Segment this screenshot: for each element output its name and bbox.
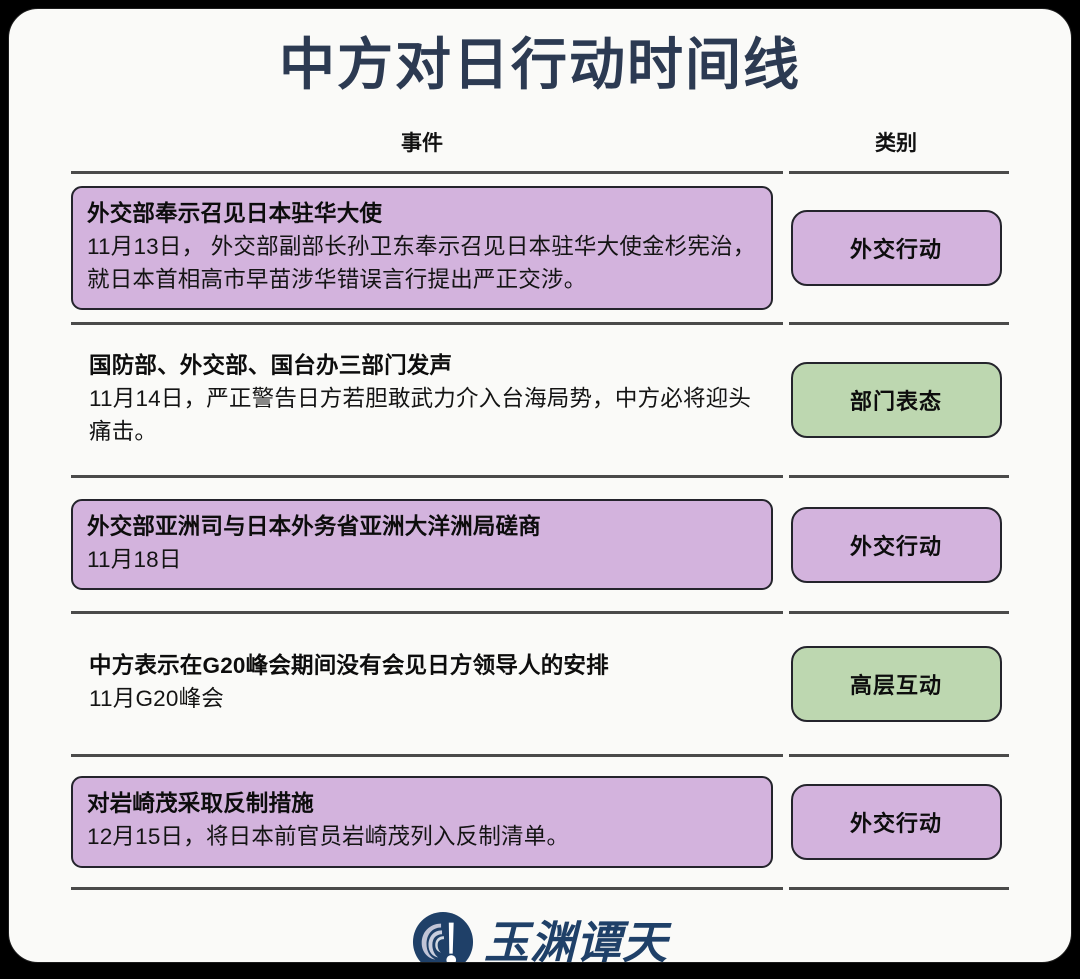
event-description: 12月15日，将日本前官员岩崎茂列入反制清单。	[87, 821, 757, 853]
event-description: 11月13日， 外交部副部长孙卫东奉示召见日本驻华大使金杉宪治，就日本首相高市早…	[87, 231, 757, 296]
table-row[interactable]: 中方表示在G20峰会期间没有会见日方领导人的安排 11月G20峰会 高层互动	[71, 614, 1009, 754]
event-title: 外交部亚洲司与日本外务省亚洲大洋洲局磋商	[87, 511, 757, 542]
table-header-row: 事件 类别	[71, 113, 1009, 171]
brand-logo: 玉渊谭天	[412, 911, 668, 963]
event-description: 11月G20峰会	[89, 683, 757, 715]
event-box: 对岩崎茂采取反制措施 12月15日，将日本前官员岩崎茂列入反制清单。	[71, 776, 773, 867]
column-header-category: 类别	[875, 127, 917, 157]
divider-segment-right	[789, 887, 1009, 890]
table-header-event-cell: 事件	[71, 113, 783, 171]
event-title: 国防部、外交部、国台办三部门发声	[89, 350, 757, 381]
category-badge[interactable]: 外交行动	[791, 784, 1002, 860]
table-row[interactable]: 外交部亚洲司与日本外务省亚洲大洋洲局磋商 11月18日 外交行动	[71, 478, 1009, 611]
event-box: 外交部奉示召见日本驻华大使 11月13日， 外交部副部长孙卫东奉示召见日本驻华大…	[71, 186, 773, 310]
event-cell: 对岩崎茂采取反制措施 12月15日，将日本前官员岩崎茂列入反制清单。	[71, 757, 783, 887]
event-description: 11月14日，严正警告日方若胆敢武力介入台海局势，中方必将迎头痛击。	[89, 383, 757, 448]
category-cell: 外交行动	[783, 478, 1009, 611]
event-cell: 中方表示在G20峰会期间没有会见日方领导人的安排 11月G20峰会	[71, 614, 783, 754]
category-badge[interactable]: 外交行动	[791, 210, 1002, 286]
page-title: 中方对日行动时间线	[9, 9, 1071, 113]
brand-name: 玉渊谭天	[484, 920, 668, 964]
table-row[interactable]: 外交部奉示召见日本驻华大使 11月13日， 外交部副部长孙卫东奉示召见日本驻华大…	[71, 174, 1009, 322]
category-badge[interactable]: 高层互动	[791, 646, 1002, 722]
table-row[interactable]: 国防部、外交部、国台办三部门发声 11月14日，严正警告日方若胆敢武力介入台海局…	[71, 325, 1009, 475]
event-box: 国防部、外交部、国台办三部门发声 11月14日，严正警告日方若胆敢武力介入台海局…	[71, 338, 773, 462]
table-header-category-cell: 类别	[783, 113, 1009, 171]
category-badge[interactable]: 部门表态	[791, 362, 1002, 438]
divider-segment-left	[71, 887, 783, 890]
poster-card: 中方对日行动时间线 事件 类别 外交部奉示召见日本驻华大使 11月13日， 外交…	[8, 8, 1072, 963]
divider-row-5	[71, 887, 1009, 890]
timeline-table: 事件 类别 外交部奉示召见日本驻华大使 11月13日， 外交部副部长孙卫东奉示召…	[71, 113, 1009, 890]
event-cell: 外交部奉示召见日本驻华大使 11月13日， 外交部副部长孙卫东奉示召见日本驻华大…	[71, 174, 783, 322]
column-header-event: 事件	[401, 127, 443, 157]
event-box: 中方表示在G20峰会期间没有会见日方领导人的安排 11月G20峰会	[71, 638, 773, 729]
category-badge[interactable]: 外交行动	[791, 507, 1002, 583]
event-title: 中方表示在G20峰会期间没有会见日方领导人的安排	[89, 650, 757, 681]
category-cell: 外交行动	[783, 757, 1009, 887]
footer: 玉渊谭天	[9, 890, 1071, 963]
category-cell: 高层互动	[783, 614, 1009, 754]
event-box: 外交部亚洲司与日本外务省亚洲大洋洲局磋商 11月18日	[71, 499, 773, 590]
event-title: 对岩崎茂采取反制措施	[87, 788, 757, 819]
event-description: 11月18日	[87, 544, 757, 576]
table-row[interactable]: 对岩崎茂采取反制措施 12月15日，将日本前官员岩崎茂列入反制清单。 外交行动	[71, 757, 1009, 887]
event-cell: 国防部、外交部、国台办三部门发声 11月14日，严正警告日方若胆敢武力介入台海局…	[71, 325, 783, 475]
category-cell: 部门表态	[783, 325, 1009, 475]
brand-emblem-icon	[412, 911, 474, 963]
event-cell: 外交部亚洲司与日本外务省亚洲大洋洲局磋商 11月18日	[71, 478, 783, 611]
event-title: 外交部奉示召见日本驻华大使	[87, 198, 757, 229]
category-cell: 外交行动	[783, 174, 1009, 322]
